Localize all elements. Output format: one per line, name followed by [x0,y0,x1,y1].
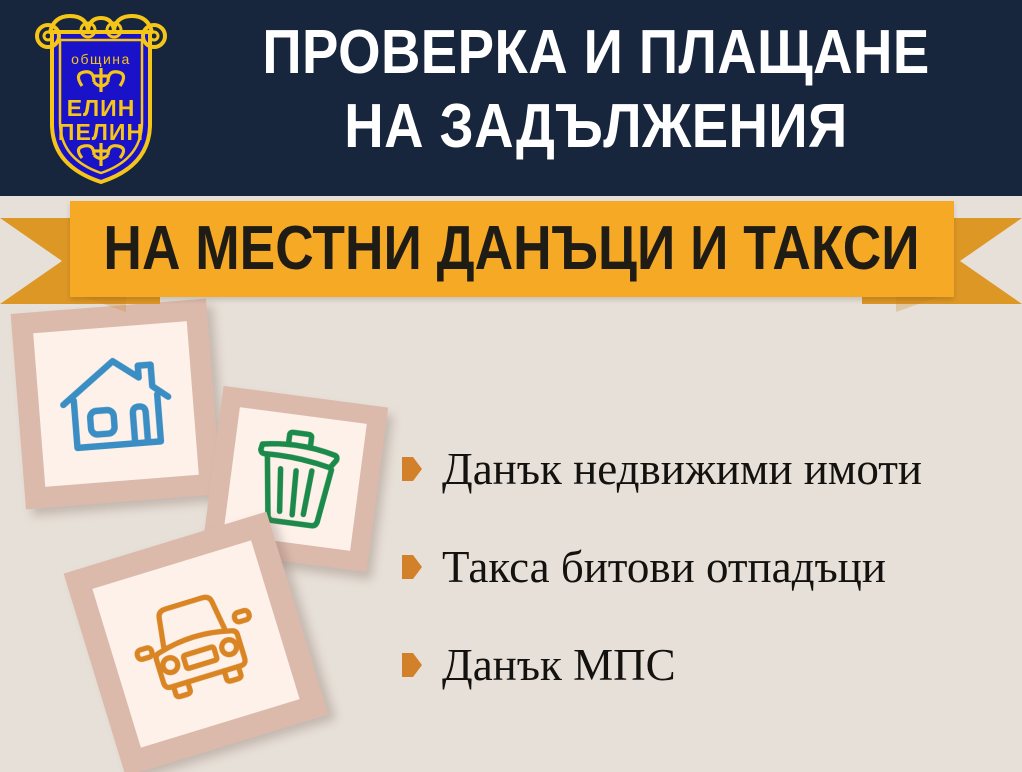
crest-name-line-1: ЕЛИН [67,95,136,121]
stamp-card-real-estate [11,299,222,510]
title-line-1: ПРОВЕРКА И ПЛАЩАНЕ [235,16,957,90]
subtitle-ribbon: НА МЕСТНИ ДАНЪЦИ И ТАКСИ [0,196,1022,308]
car-icon [119,575,272,714]
crest-name-line-2: ПЕЛИН [58,119,144,145]
ribbon-banner: НА МЕСТНИ ДАНЪЦИ И ТАКСИ [70,201,954,297]
crest-top-word: община [71,51,131,67]
crest-icon: община ЕЛИН ПЕЛИН [26,6,176,190]
tax-type-list: Данък недвижими имоти Такса битови отпад… [402,420,1012,714]
list-item[interactable]: Такса битови отпадъци [402,518,1012,616]
poster-title: ПРОВЕРКА И ПЛАЩАНЕ НА ЗАДЪЛЖЕНИЯ [186,16,1006,164]
list-item[interactable]: Данък недвижими имоти [402,420,1012,518]
arrow-bullet-icon [402,653,422,677]
title-line-2: НА ЗАДЪЛЖЕНИЯ [235,90,957,164]
poster-root: община ЕЛИН ПЕЛИН ПРОВЕРКА И ПЛАЩ [0,0,1022,772]
municipality-logo: община ЕЛИН ПЕЛИН [26,6,176,190]
house-icon [53,346,179,463]
arrow-bullet-icon [402,457,422,481]
list-item-label: Такса битови отпадъци [442,542,886,592]
list-item-label: Данък МПС [442,640,676,690]
ribbon-text: НА МЕСТНИ ДАНЪЦИ И ТАКСИ [104,218,920,280]
stamp-collage [0,300,430,772]
stamp-paper [33,321,199,487]
list-item[interactable]: Данък МПС [402,616,1012,714]
arrow-bullet-icon [402,555,422,579]
list-item-label: Данък недвижими имоти [442,444,922,494]
